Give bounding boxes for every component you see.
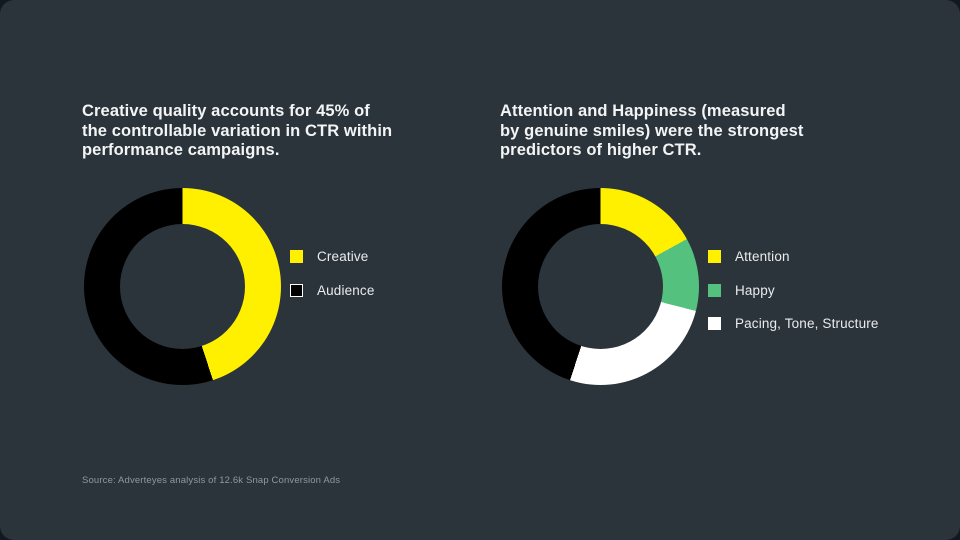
- legend-swatch-attention: [708, 250, 721, 263]
- source-note: Source: Adverteyes analysis of 12.6k Sna…: [82, 475, 340, 486]
- panel-ctr-predictors: Attention and Happiness (measured by gen…: [488, 0, 918, 540]
- legend-swatch-creative: [290, 250, 303, 263]
- legend-swatch-pacing-tone-structure: [708, 317, 721, 330]
- legend-swatch-happy: [708, 284, 721, 297]
- panel-creative-title: Creative quality accounts for 45% of the…: [82, 102, 412, 161]
- legend-label-pacing-tone-structure: Pacing, Tone, Structure: [735, 316, 879, 331]
- legend-label-attention: Attention: [735, 249, 790, 264]
- panel-creative-quality: Creative quality accounts for 45% of the…: [70, 0, 500, 540]
- legend-label-audience: Audience: [317, 283, 375, 298]
- legend-item-pacing-tone-structure[interactable]: Pacing, Tone, Structure: [708, 307, 879, 341]
- legend-item-attention[interactable]: Attention: [708, 240, 879, 274]
- legend-item-audience[interactable]: Audience: [290, 274, 375, 308]
- panel-predictors-title: Attention and Happiness (measured by gen…: [500, 102, 830, 161]
- legend-label-happy: Happy: [735, 283, 775, 298]
- legend-predictors: Attention Happy Pacing, Tone, Structure: [708, 240, 879, 341]
- donut-center-hole: [120, 224, 245, 349]
- legend-label-creative: Creative: [317, 249, 368, 264]
- donut-center-hole: [538, 224, 663, 349]
- slide-canvas: Creative quality accounts for 45% of the…: [0, 0, 960, 540]
- legend-item-happy[interactable]: Happy: [708, 274, 879, 308]
- donut-chart-ctr-predictors: [502, 188, 699, 385]
- donut-chart-creative-vs-audience: [84, 188, 281, 385]
- legend-creative: Creative Audience: [290, 240, 375, 307]
- legend-item-creative[interactable]: Creative: [290, 240, 375, 274]
- legend-swatch-audience: [290, 284, 303, 297]
